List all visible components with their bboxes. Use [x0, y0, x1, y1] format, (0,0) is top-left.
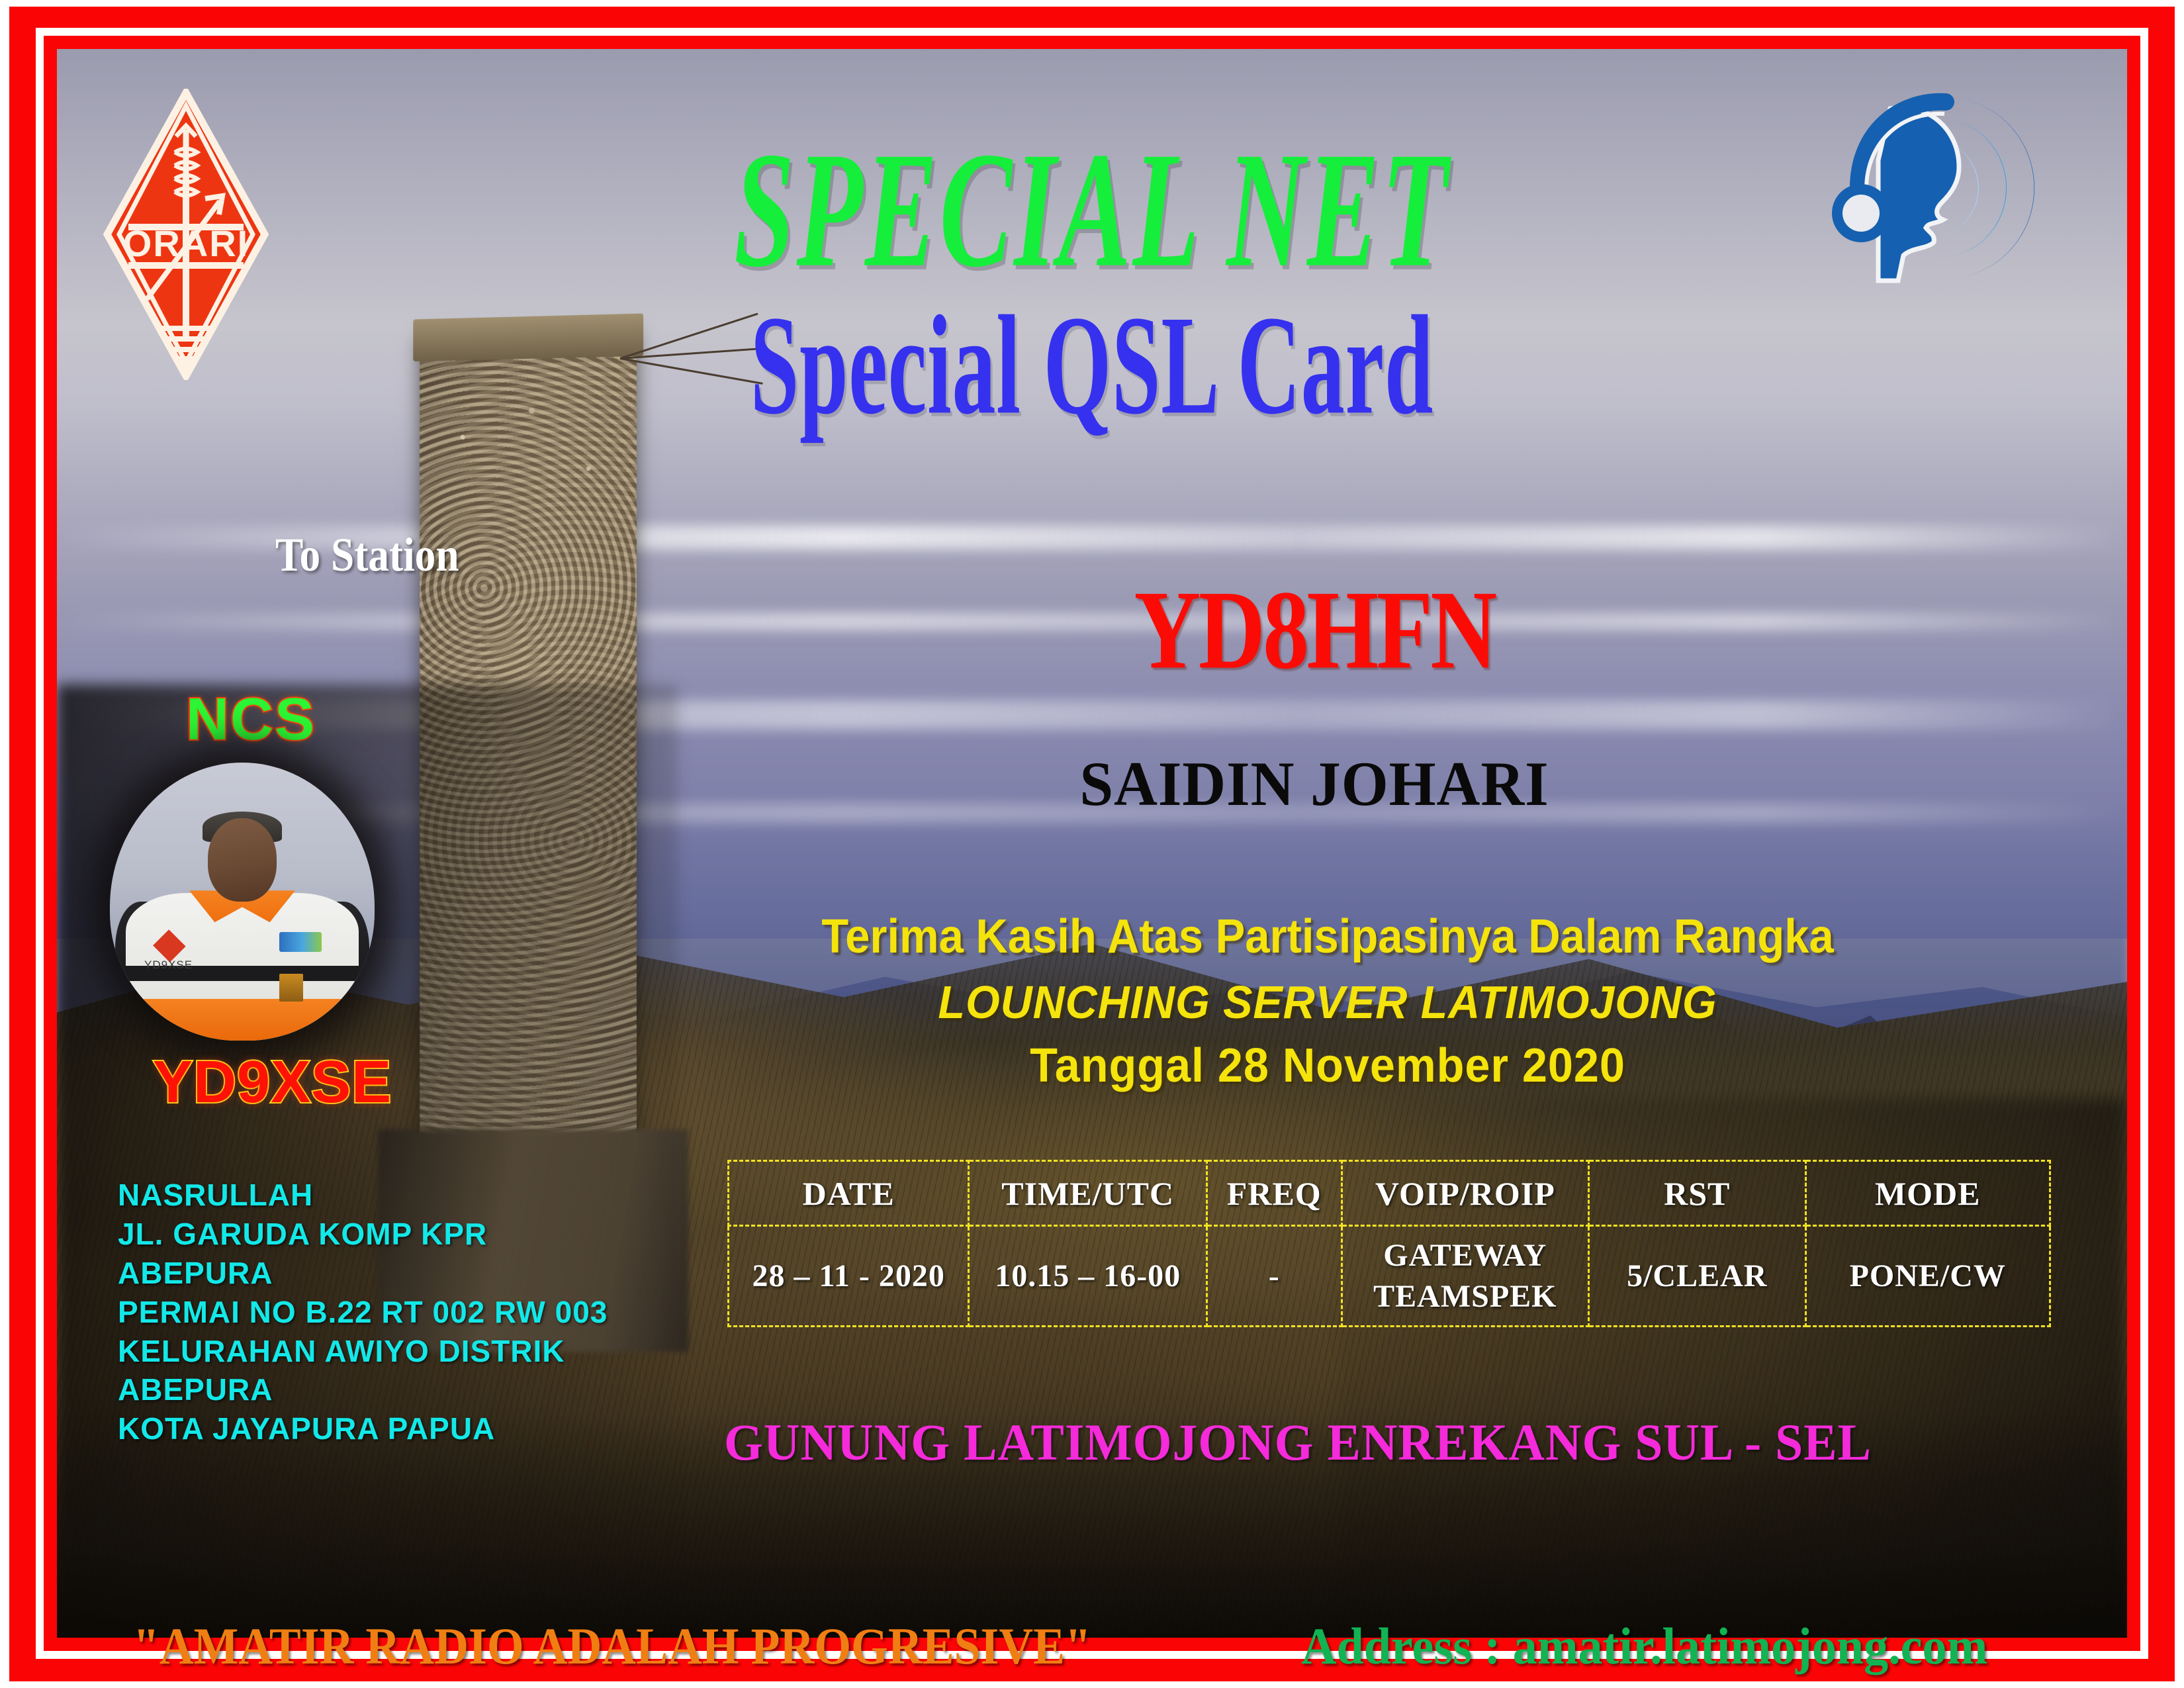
address-line: JL. GARUDA KOMP KPR [118, 1215, 608, 1254]
cell-voip: GATEWAY TEAMSPEK [1342, 1226, 1588, 1327]
event-launch-line: LOUNCHING SERVER LATIMOJONG [787, 976, 1868, 1029]
cell-mode: PONE/CW [1805, 1226, 2050, 1327]
qso-log-table: DATE TIME/UTC FREQ VOIP/ROIP RST MODE 28… [727, 1160, 2051, 1327]
ncs-operator-avatar: YD9XSE [110, 763, 375, 1041]
ncs-callsign: YD9XSE [153, 1049, 392, 1117]
table-header-date: DATE [729, 1161, 969, 1226]
card-content: ORARI [57, 49, 2127, 1638]
page-title-special-net: SPECIAL NET [264, 127, 1920, 293]
orari-logo-icon: ORARI [103, 89, 269, 380]
table-header-time: TIME/UTC [969, 1161, 1206, 1226]
cell-freq: - [1206, 1226, 1342, 1327]
station-operator-name: SAIDIN JOHARI [806, 747, 1823, 820]
table-header-mode: MODE [1805, 1161, 2050, 1226]
station-callsign: YD8HFN [827, 565, 1801, 694]
footer-address: Address : amatir.latimojong.com [1301, 1617, 1987, 1676]
table-header-row: DATE TIME/UTC FREQ VOIP/ROIP RST MODE [729, 1161, 2050, 1226]
address-line: NASRULLAH [118, 1176, 608, 1215]
cell-time: 10.15 – 16-00 [969, 1226, 1206, 1327]
address-line: KELURAHAN AWIYO DISTRIK [118, 1332, 608, 1371]
address-line: ABEPURA [118, 1254, 608, 1293]
qsl-card: ORARI [0, 0, 2184, 1688]
to-station-label: To Station [275, 528, 459, 583]
page-subtitle-qsl-card: Special QSL Card [264, 294, 1920, 436]
footer-motto: "AMATIR RADIO ADALAH PROGRESIVE" [133, 1617, 1091, 1676]
table-header-rst: RST [1589, 1161, 1806, 1226]
table-header-freq: FREQ [1206, 1161, 1342, 1226]
orari-logo: ORARI [103, 89, 269, 380]
ncs-label: NCS [186, 686, 316, 754]
event-date-line: Tanggal 28 November 2020 [787, 1039, 1868, 1093]
location-line: GUNUNG LATIMOJONG ENREKANG SUL - SEL [672, 1413, 1924, 1472]
table-header-voip: VOIP/ROIP [1342, 1161, 1588, 1226]
address-line: KOTA JAYAPURA PAPUA [118, 1409, 608, 1448]
address-line: PERMAI NO B.22 RT 002 RW 003 [118, 1293, 608, 1332]
address-line: ABEPURA [118, 1370, 608, 1409]
cell-rst: 5/CLEAR [1589, 1226, 1806, 1327]
cell-date: 28 – 11 - 2020 [729, 1226, 969, 1327]
ncs-address-block: NASRULLAH JL. GARUDA KOMP KPR ABEPURA PE… [118, 1176, 608, 1448]
orari-logo-text: ORARI [123, 222, 249, 264]
event-thanks-line: Terima Kasih Atas Partisipasinya Dalam R… [798, 910, 1857, 964]
avatar-uniform-callsign: YD9XSE [144, 959, 193, 972]
table-row: 28 – 11 - 2020 10.15 – 16-00 - GATEWAY T… [729, 1226, 2050, 1327]
